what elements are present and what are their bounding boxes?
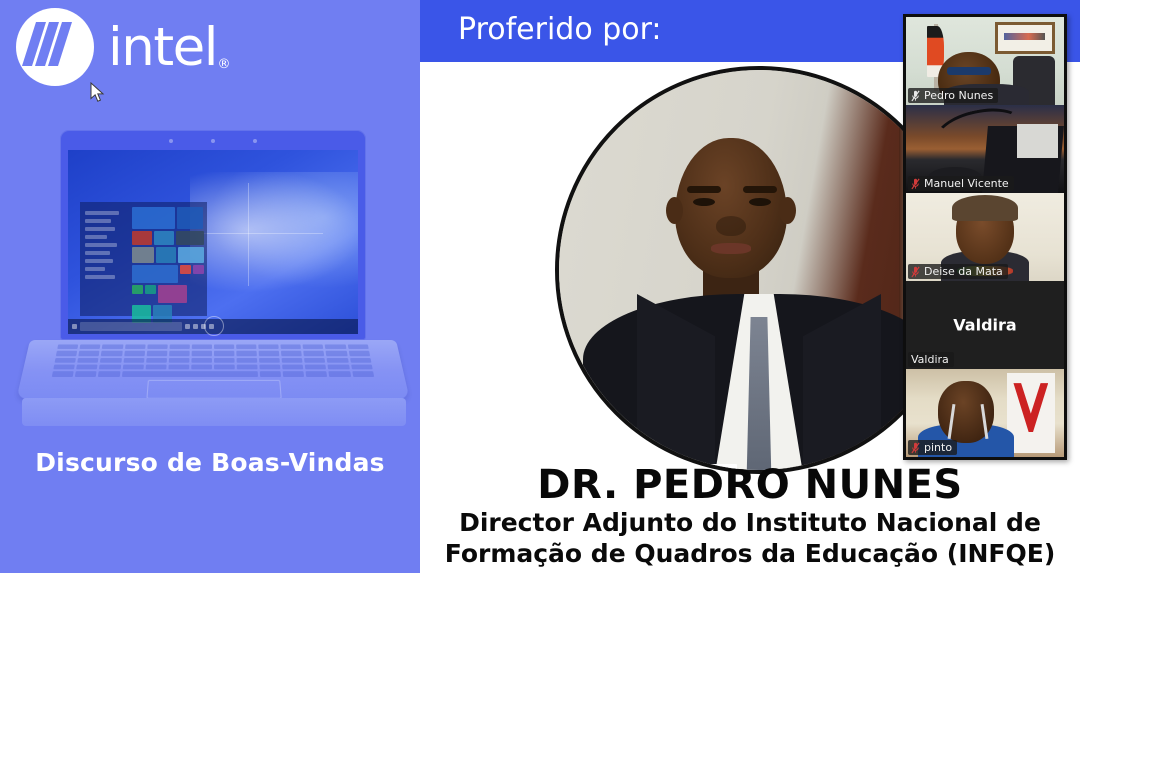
- banner-title: Proferido por:: [458, 12, 662, 47]
- speaker-name: DR. PEDRO NUNES: [420, 462, 1080, 508]
- participant-name: Valdira: [911, 353, 949, 366]
- zoom-tile-pinto[interactable]: pinto: [906, 369, 1064, 457]
- participant-name: Deise da Mata: [924, 265, 1003, 278]
- participant-name: pinto: [924, 441, 952, 454]
- participant-name: Pedro Nunes: [924, 89, 993, 102]
- arrow-cursor-icon: [90, 82, 106, 104]
- zoom-tile-label: pinto: [908, 440, 957, 455]
- zoom-tile-deise-da-mata[interactable]: Deise da Mata: [906, 193, 1064, 281]
- zoom-tile-label: Pedro Nunes: [908, 88, 998, 103]
- speaker-title: Director Adjunto do Instituto Nacional d…: [420, 508, 1080, 570]
- camera-off-name: Valdira: [906, 316, 1064, 335]
- speaker-portrait: [555, 66, 963, 474]
- laptop-hp-badge-icon: [204, 316, 224, 336]
- mic-muted-icon: [911, 178, 920, 190]
- welcome-speech-caption: Discurso de Boas-Vindas: [0, 448, 420, 477]
- zoom-tile-label: Deise da Mata: [908, 264, 1008, 279]
- zoom-tile-valdira[interactable]: Valdira Valdira: [906, 281, 1064, 369]
- zoom-tile-label: Valdira: [908, 352, 954, 367]
- laptop-screen-windows10: [68, 150, 358, 334]
- brand-lockup: intel®: [16, 8, 229, 86]
- mic-muted-icon: [911, 90, 920, 102]
- zoom-tile-pedro-nunes[interactable]: Pedro Nunes: [906, 17, 1064, 105]
- zoom-participant-strip[interactable]: Pedro Nunes Manuel Vicente: [903, 14, 1067, 460]
- mic-muted-icon: [911, 266, 920, 278]
- zoom-tile-manuel-vicente[interactable]: Manuel Vicente: [906, 105, 1064, 193]
- speaker-title-line-1: Director Adjunto do Instituto Nacional d…: [420, 508, 1080, 539]
- hp-laptop-illustration: [22, 122, 406, 440]
- zoom-tile-label: Manuel Vicente: [908, 176, 1014, 191]
- speaker-title-line-2: Formação de Quadros da Educação (INFQE): [420, 539, 1080, 570]
- slide-left-panel: intel®: [0, 0, 420, 573]
- hp-logo-icon: [16, 8, 94, 86]
- mic-muted-icon: [911, 442, 920, 454]
- participant-name: Manuel Vicente: [924, 177, 1009, 190]
- intel-wordmark: intel®: [108, 21, 229, 74]
